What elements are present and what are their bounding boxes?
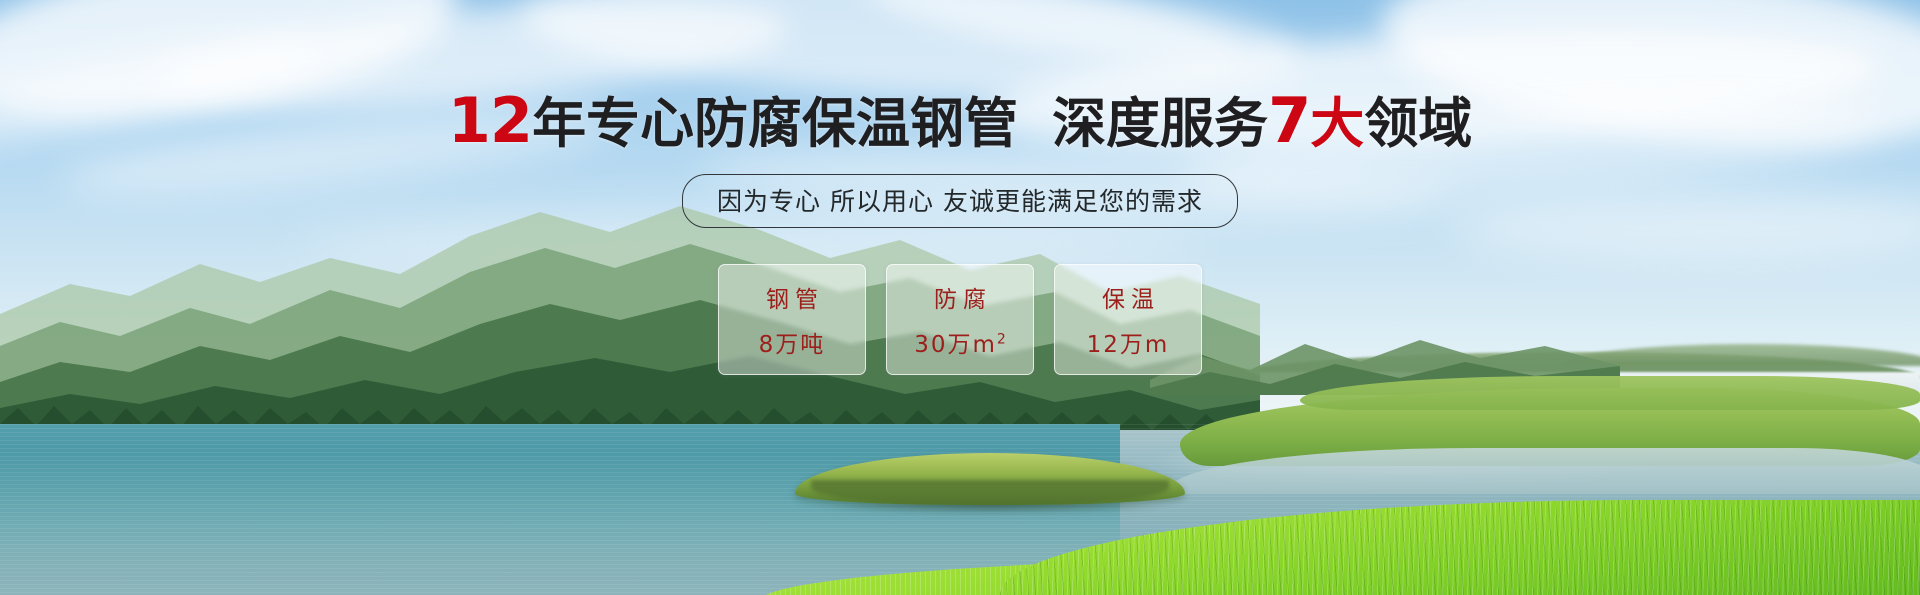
stat-card-value: 30万m2 bbox=[914, 325, 1006, 359]
headline-fields-number: 7 bbox=[1268, 84, 1310, 157]
stat-value-base: 12万m bbox=[1087, 332, 1170, 358]
stat-card-title: 防腐 bbox=[928, 280, 992, 314]
headline-years-number: 12 bbox=[448, 84, 532, 157]
stat-value-superscript: 2 bbox=[997, 331, 1006, 347]
promo-banner: 12年专心防腐保温钢管深度服务7大领域 因为专心 所以用心 友诚更能满足您的需求… bbox=[0, 0, 1920, 595]
stat-card-title: 钢管 bbox=[760, 280, 824, 314]
subtitle-pill: 因为专心 所以用心 友诚更能满足您的需求 bbox=[682, 174, 1238, 228]
page-title: 12年专心防腐保温钢管深度服务7大领域 bbox=[0, 86, 1920, 155]
stat-value-base: 30万m bbox=[914, 332, 997, 358]
stat-value-base: 8万吨 bbox=[759, 332, 826, 358]
stat-card-title: 保温 bbox=[1096, 280, 1160, 314]
stat-card-anticorrosion[interactable]: 防腐 30万m2 bbox=[886, 264, 1034, 375]
headline-segment-3: 领域 bbox=[1364, 92, 1472, 155]
stat-card-value: 8万吨 bbox=[759, 325, 826, 359]
stat-card-value: 12万m bbox=[1087, 325, 1170, 359]
headline-fields-unit: 大 bbox=[1310, 92, 1364, 155]
banner-content: 12年专心防腐保温钢管深度服务7大领域 因为专心 所以用心 友诚更能满足您的需求… bbox=[0, 0, 1920, 595]
headline-segment-2: 深度服务 bbox=[1052, 92, 1268, 155]
stat-card-steel-pipe[interactable]: 钢管 8万吨 bbox=[718, 264, 866, 375]
subtitle-container: 因为专心 所以用心 友诚更能满足您的需求 bbox=[0, 174, 1920, 228]
stats-card-group: 钢管 8万吨 防腐 30万m2 保温 12万m bbox=[0, 264, 1920, 375]
headline-segment-1: 年专心防腐保温钢管 bbox=[532, 92, 1018, 155]
stat-card-insulation[interactable]: 保温 12万m bbox=[1054, 264, 1202, 375]
